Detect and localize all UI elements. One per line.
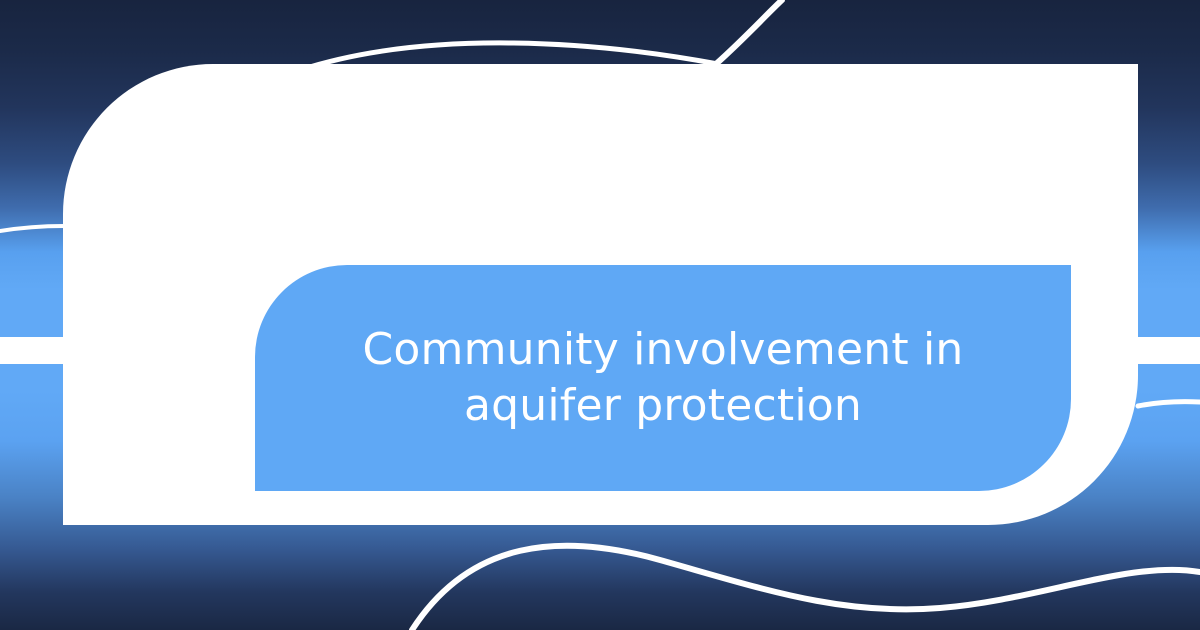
banner-canvas: Community involvement in aquifer protect… [0, 0, 1200, 630]
mid-right-curve-line [1138, 402, 1200, 406]
top-right-diagonal-line [716, 0, 782, 64]
left-curve-line [0, 226, 64, 231]
white-card: Community involvement in aquifer protect… [63, 64, 1138, 525]
title-panel: Community involvement in aquifer protect… [255, 265, 1071, 491]
page-title: Community involvement in aquifer protect… [293, 322, 1033, 435]
bottom-s-wave-line [412, 546, 1200, 630]
